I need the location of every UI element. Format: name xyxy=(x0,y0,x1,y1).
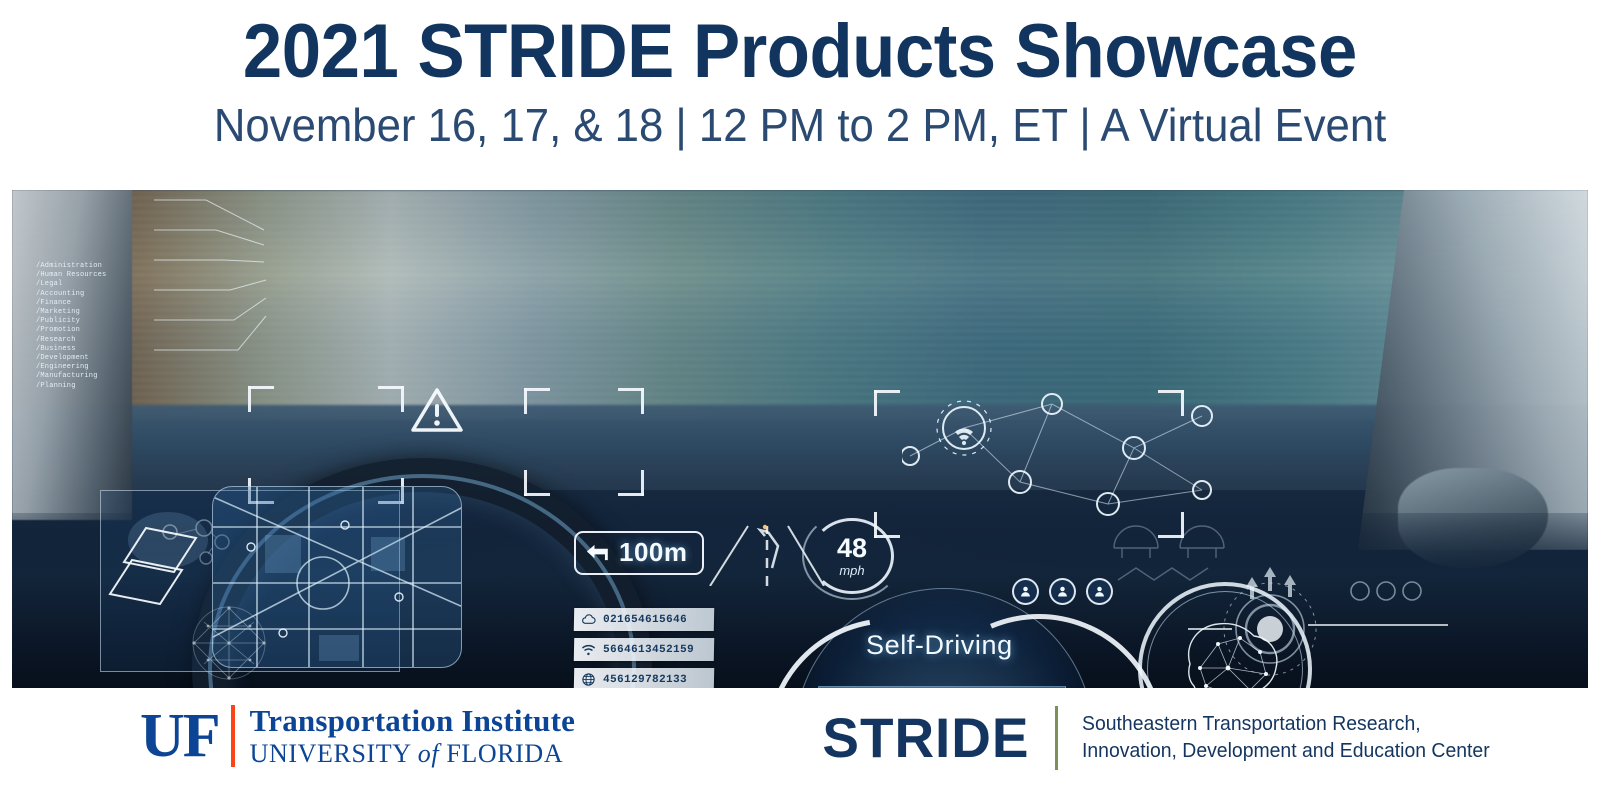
department-list-item: /Marketing xyxy=(36,308,106,317)
department-list-item: /Development xyxy=(36,354,106,363)
stride-tagline-line1: Southeastern Transportation Research, xyxy=(1082,711,1490,738)
telemetry-row: 021654615646 xyxy=(574,608,714,631)
vehicle-detection-bracket xyxy=(524,388,644,496)
department-list-item: /Human Resources xyxy=(36,271,106,280)
uf-divider-bar xyxy=(231,705,235,767)
telemetry-row: 456129782133 xyxy=(574,668,714,688)
department-list-item: /Legal xyxy=(36,280,106,289)
uf-university-name: UNIVERSITY of FLORIDA xyxy=(250,739,575,769)
navigation-distance-chip: 100m xyxy=(574,531,704,575)
department-list-item: /Promotion xyxy=(36,326,106,335)
department-list-item: /Publicity xyxy=(36,317,106,326)
wifi-icon xyxy=(581,642,596,657)
telemetry-value: 456129782133 xyxy=(603,674,687,686)
data-row-connector-lines xyxy=(154,190,274,380)
banner-header: 2021 STRIDE Products Showcase November 1… xyxy=(0,0,1600,190)
department-list-item: /Manufacturing xyxy=(36,372,106,381)
banner-footer: UF Transportation Institute UNIVERSITY o… xyxy=(0,688,1600,800)
nav-distance-value: 100m xyxy=(619,537,688,568)
stride-wordmark: STRIDE xyxy=(822,710,1053,766)
department-menu-list: /Administration/Human Resources/Legal/Ac… xyxy=(36,262,106,391)
globe-icon xyxy=(581,672,596,687)
uf-logo-text: Transportation Institute UNIVERSITY of F… xyxy=(250,704,575,769)
telemetry-row: 5664613452159 xyxy=(574,638,714,661)
stride-divider-bar xyxy=(1055,706,1058,770)
department-list-item: /Finance xyxy=(36,299,106,308)
uf-wordmark: UF xyxy=(140,705,231,767)
uf-of-word: of xyxy=(418,739,439,768)
map-panel-icon xyxy=(212,486,462,668)
department-list-item: /Business xyxy=(36,345,106,354)
self-driving-module: Self-Driving xyxy=(774,578,1154,688)
uf-transportation-institute-logo[interactable]: UF Transportation Institute UNIVERSITY o… xyxy=(140,704,575,769)
turn-left-arrow-icon xyxy=(586,543,610,563)
page-title: 2021 STRIDE Products Showcase xyxy=(243,12,1357,92)
department-list-item: /Engineering xyxy=(36,363,106,372)
department-list-item: /Administration xyxy=(36,262,106,271)
department-list-item: /Planning xyxy=(36,382,106,391)
department-list-item: /Accounting xyxy=(36,290,106,299)
uf-florida-word: FLORIDA xyxy=(439,739,563,768)
warning-triangle-icon xyxy=(410,386,464,434)
stride-tagline-line2: Innovation, Development and Education Ce… xyxy=(1082,738,1490,765)
uf-university-word: UNIVERSITY xyxy=(250,739,418,768)
self-driving-label: Self-Driving xyxy=(866,630,1013,661)
hero-image: /Administration/Human Resources/Legal/Ac… xyxy=(12,190,1588,688)
event-banner: 2021 STRIDE Products Showcase November 1… xyxy=(0,0,1600,800)
hud-radial-instrument xyxy=(1188,555,1448,680)
stride-center-logo[interactable]: STRIDE Southeastern Transportation Resea… xyxy=(820,706,1502,770)
cloud-icon xyxy=(581,612,596,627)
telemetry-value: 5664613452159 xyxy=(603,644,694,656)
selection-parallelogram xyxy=(108,520,228,620)
telemetry-value: 021654615646 xyxy=(603,614,687,626)
telemetry-data-list: 0216546156465664613452159456129782133368… xyxy=(574,608,714,688)
connected-network-graph xyxy=(902,386,1232,526)
uf-institute-name: Transportation Institute xyxy=(250,704,575,739)
stride-logo-text: Southeastern Transportation Research, In… xyxy=(1082,711,1502,765)
event-details-subtitle: November 16, 17, & 18 | 12 PM to 2 PM, E… xyxy=(214,100,1386,151)
department-list-item: /Research xyxy=(36,336,106,345)
